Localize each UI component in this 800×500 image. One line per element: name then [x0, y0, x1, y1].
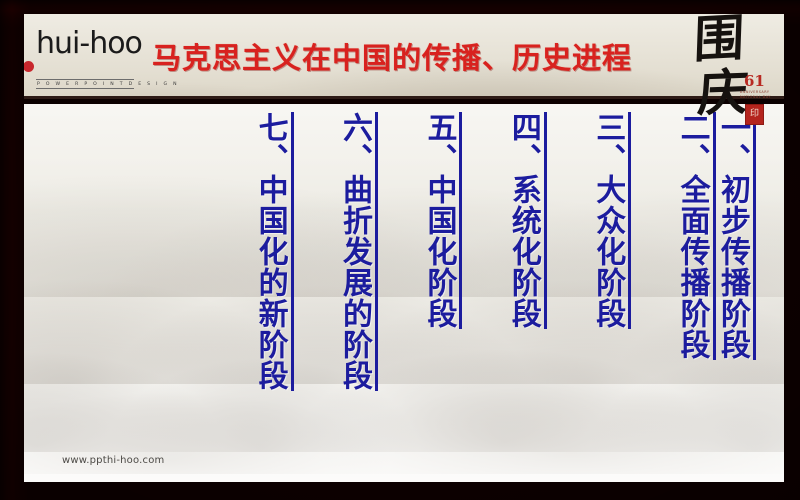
outline-item-3[interactable]: 三、大众化阶段 — [591, 112, 631, 329]
outline-item-4[interactable]: 四、系统化阶段 — [506, 112, 546, 329]
slide-header: hui-hoo P O W E R P O I N T D E S I G N … — [24, 14, 784, 99]
page-title: 马克思主义在中国的传播、历史进程 — [152, 35, 632, 77]
footer-url[interactable]: www.ppthi-hoo.com — [62, 455, 164, 466]
brand-logo[interactable]: hui-hoo P O W E R P O I N T D E S I G N — [36, 29, 141, 77]
outline-item-6[interactable]: 六、曲折发展的阶段 — [338, 112, 378, 391]
slide-body-panel: 一、初步传播阶段 二、全面传播阶段 三、大众化阶段 四、系统化阶段 五、中国化阶… — [24, 104, 784, 482]
outline-item-1[interactable]: 一、初步传播阶段 — [716, 112, 756, 360]
outline-item-2[interactable]: 二、全面传播阶段 — [675, 112, 715, 360]
logo-tagline: P O W E R P O I N T D E S I G N — [36, 79, 134, 89]
outline-item-5[interactable]: 五、中国化阶段 — [422, 112, 462, 329]
outline-item-7[interactable]: 七、中国化的新阶段 — [253, 112, 293, 391]
outline-columns: 一、初步传播阶段 二、全面传播阶段 三、大众化阶段 四、系统化阶段 五、中国化阶… — [24, 104, 784, 482]
logo-wordmark: hui-hoo — [36, 29, 141, 59]
slide-canvas: hui-hoo P O W E R P O I N T D E S I G N … — [0, 0, 800, 500]
logo-dot-icon — [24, 61, 34, 72]
